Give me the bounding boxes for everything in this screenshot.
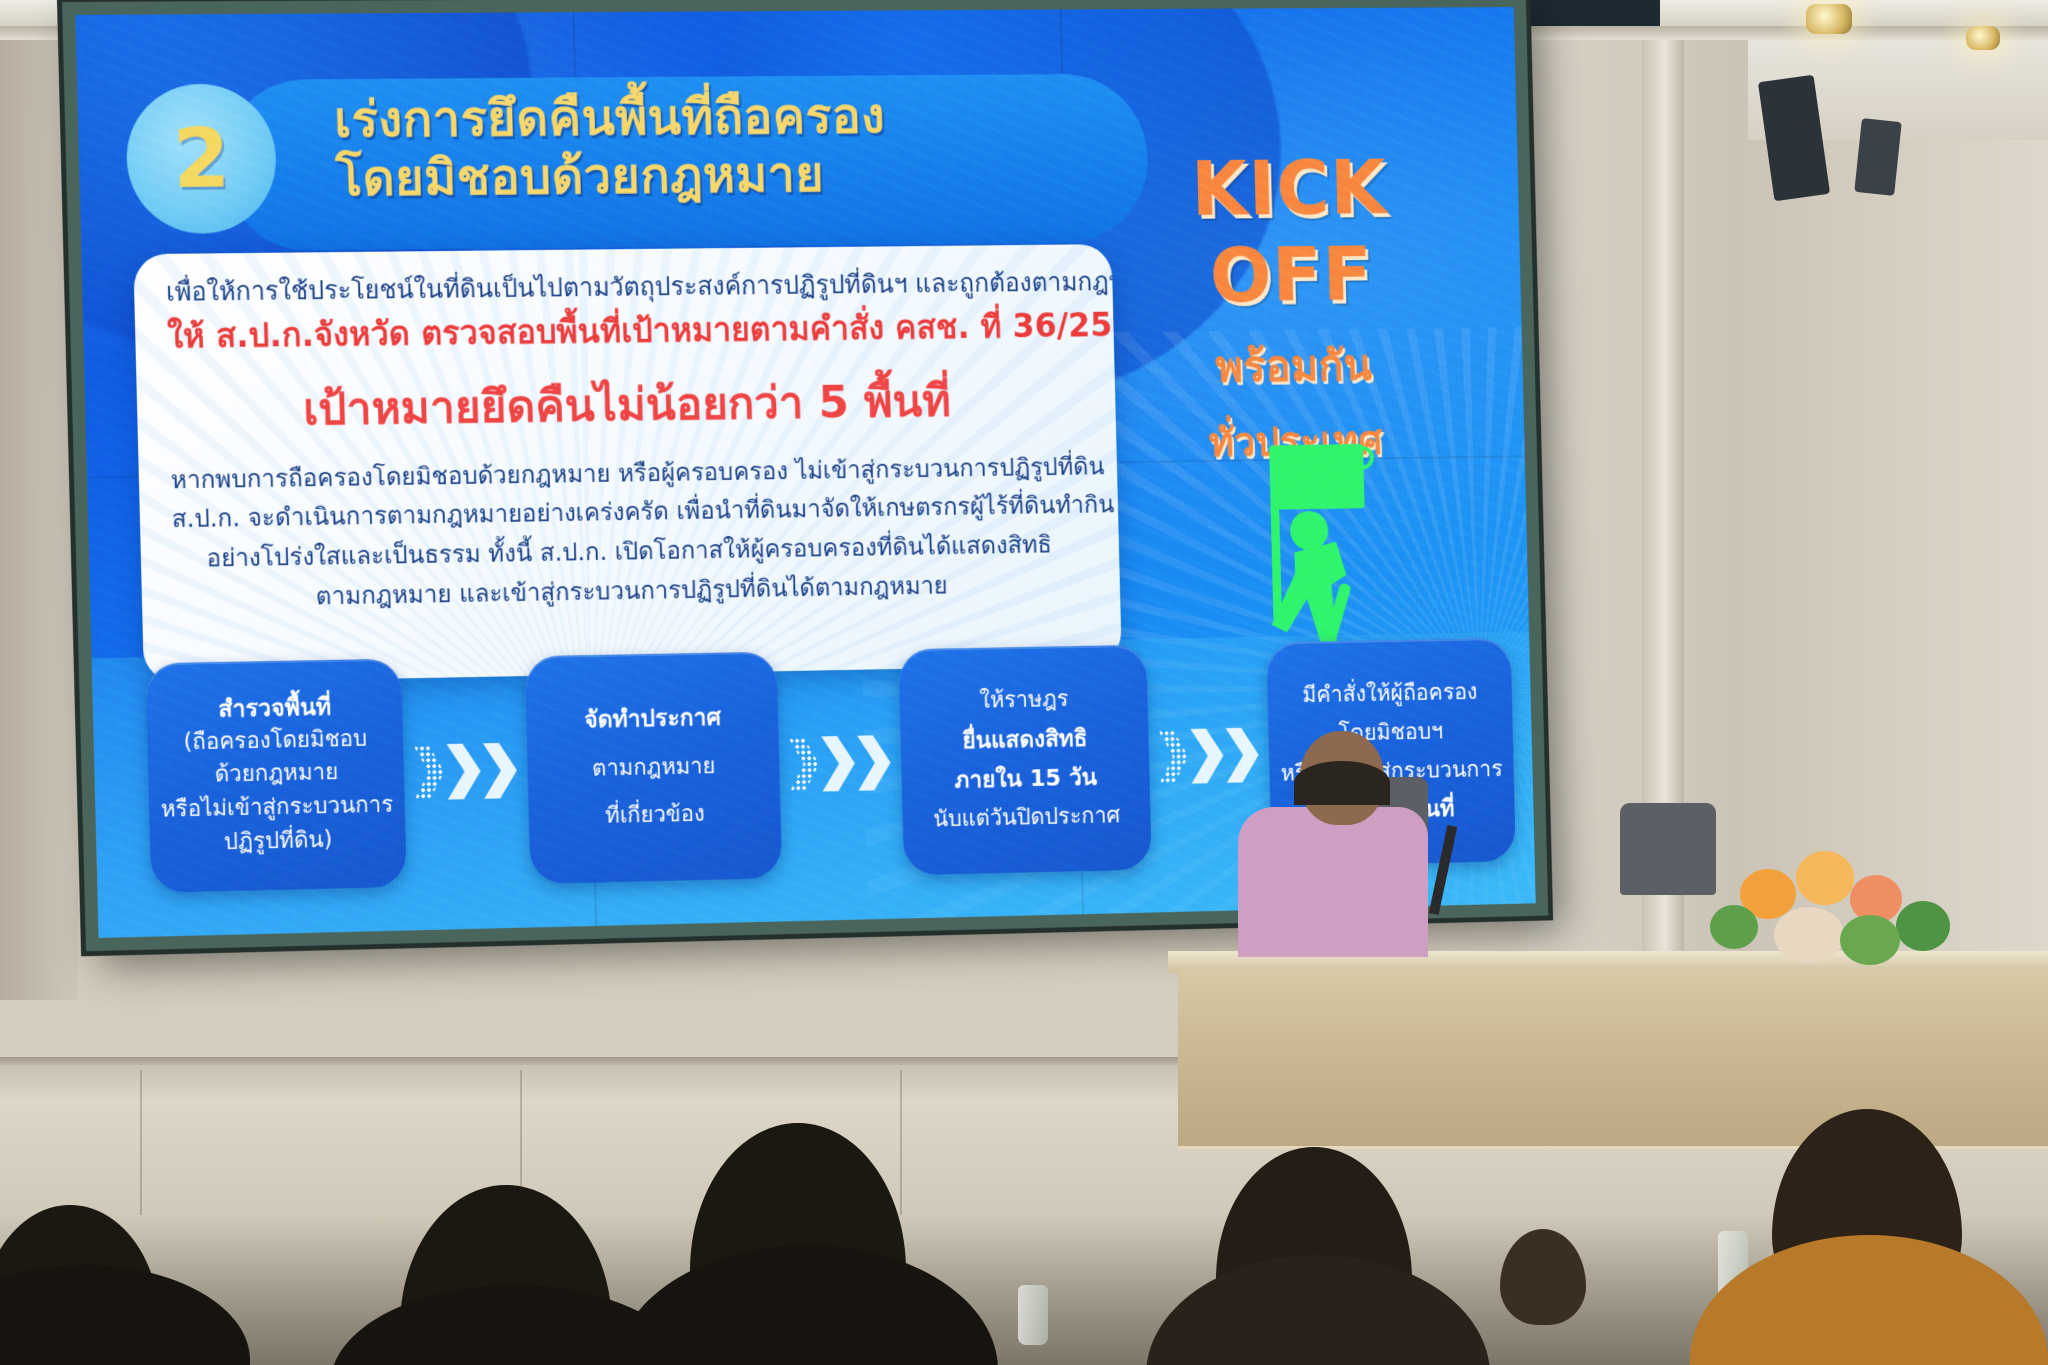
kickoff-block: KICK OFF พร้อมกัน ทั่วประเทศ [1107, 143, 1476, 475]
double-chevron-right-icon [401, 656, 531, 887]
flow-step-sub: ปฏิรูปที่ดิน) [224, 824, 333, 860]
card-headline: เป้าหมายยึดคืนไม่น้อยกว่า 5 พื้นที่ [168, 363, 1082, 446]
flow-step-title: มีคำสั่งให้ผู้ถือครอง [1302, 677, 1478, 713]
slide-header: 2 เร่งการยึดคืนพื้นที่ถือครอง โดยมิชอบด้… [125, 70, 1112, 256]
flow-step-sub: ภายใน 15 วัน [954, 761, 1097, 796]
speaker-torso [1238, 807, 1428, 957]
flow-step-title: ให้ราษฎร [979, 683, 1069, 718]
flow-step-sub: หรือไม่เข้าสู่กระบวนการ [161, 789, 394, 828]
slide-title: เร่งการยึดคืนพื้นที่ถือครอง โดยมิชอบด้วย… [333, 86, 1110, 209]
water-bottle [1018, 1285, 1048, 1345]
slide-title-line-1: เร่งการยึดคืนพื้นที่ถือครอง [333, 86, 1108, 150]
double-chevron-right-icon [776, 649, 904, 878]
ceiling-spotlight [1966, 26, 2000, 50]
card-directive: ให้ ส.ป.ก.จังหวัด ตรวจสอบพื้นที่เป้าหมาย… [167, 305, 1080, 358]
kickoff-line-1: พร้อมกัน [1112, 330, 1475, 403]
kickoff-title: KICK OFF [1107, 143, 1472, 320]
person-planting-flag-icon [1185, 435, 1428, 663]
card-intro: เพื่อให้การใช้ประโยชน์ในที่ดินเป็นไปตามว… [166, 268, 1079, 310]
flow-step-sub: (ถือครองโดยมิชอบ [183, 723, 367, 760]
flow-step-sub: นับแต่วันปิดประกาศ [933, 800, 1121, 837]
flow-step: สำรวจพื้นที่ (ถือครองโดยมิชอบ ด้วยกฎหมาย… [146, 659, 407, 893]
flow-step-sub: ด้วยกฎหมาย [214, 757, 338, 793]
stage-seam [900, 1070, 902, 1215]
step-number: 2 [172, 111, 231, 206]
flow-step-sub: ที่เกี่ยวข้อง [605, 798, 705, 833]
head-table [1178, 969, 2048, 1149]
flow-step-sub: ตามกฎหมาย [592, 751, 716, 787]
conference-room: 2 เร่งการยึดคืนพื้นที่ถือครอง โดยมิชอบด้… [0, 0, 2048, 1365]
stage-seam [140, 1070, 142, 1215]
flow-step-title: สำรวจพื้นที่ [218, 691, 332, 725]
floral-arrangement [1700, 845, 1970, 975]
content-card: เพื่อให้การใช้ประโยชน์ในที่ดินเป็นไปตามว… [133, 244, 1122, 683]
wall-speaker [1854, 118, 1902, 196]
slide-title-line-2: โดยมิชอบด้วยกฎหมาย [335, 143, 1110, 208]
ceiling-spotlight [1806, 4, 1852, 34]
flow-step: จัดทำประกาศ ตามกฎหมาย ที่เกี่ยวข้อง [525, 652, 782, 884]
speaker-hair [1294, 761, 1390, 805]
flow-step-title: จัดทำประกาศ [584, 701, 722, 736]
flow-step: ให้ราษฎร ยื่นแสดงสิทธิ ภายใน 15 วัน นับแ… [898, 645, 1151, 876]
flow-step-sub: ยื่นแสดงสิทธิ [962, 722, 1088, 756]
